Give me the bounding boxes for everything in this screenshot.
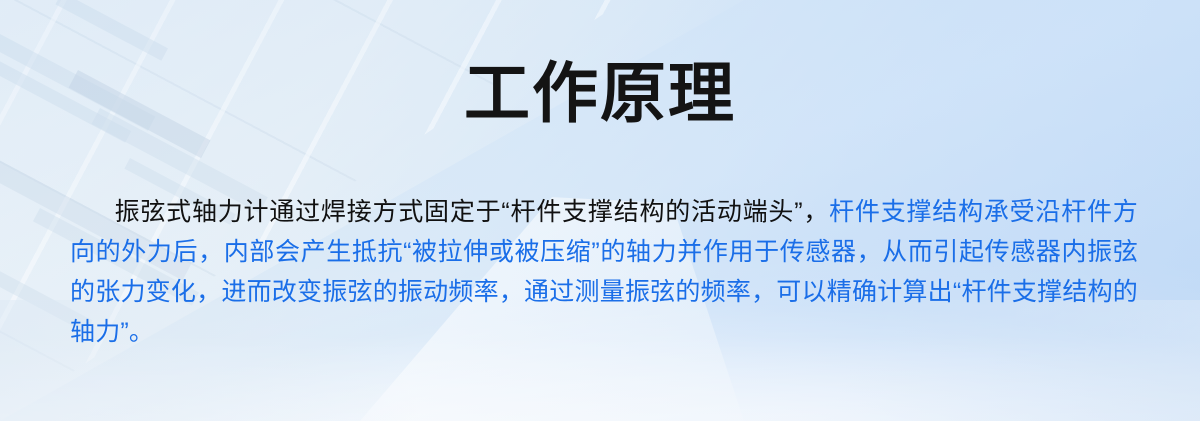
paragraph-segment-dark: 振弦式轴力计通过焊接方式固定于“杆件支撑结构的活动端头”， — [114, 198, 829, 226]
banner-content: 工作原理 振弦式轴力计通过焊接方式固定于“杆件支撑结构的活动端头”，杆件支撑结构… — [0, 0, 1200, 421]
work-principle-banner: 工作原理 振弦式轴力计通过焊接方式固定于“杆件支撑结构的活动端头”，杆件支撑结构… — [0, 0, 1200, 421]
principle-paragraph: 振弦式轴力计通过焊接方式固定于“杆件支撑结构的活动端头”，杆件支撑结构承受沿杆件… — [70, 192, 1138, 352]
page-title: 工作原理 — [0, 54, 1200, 132]
